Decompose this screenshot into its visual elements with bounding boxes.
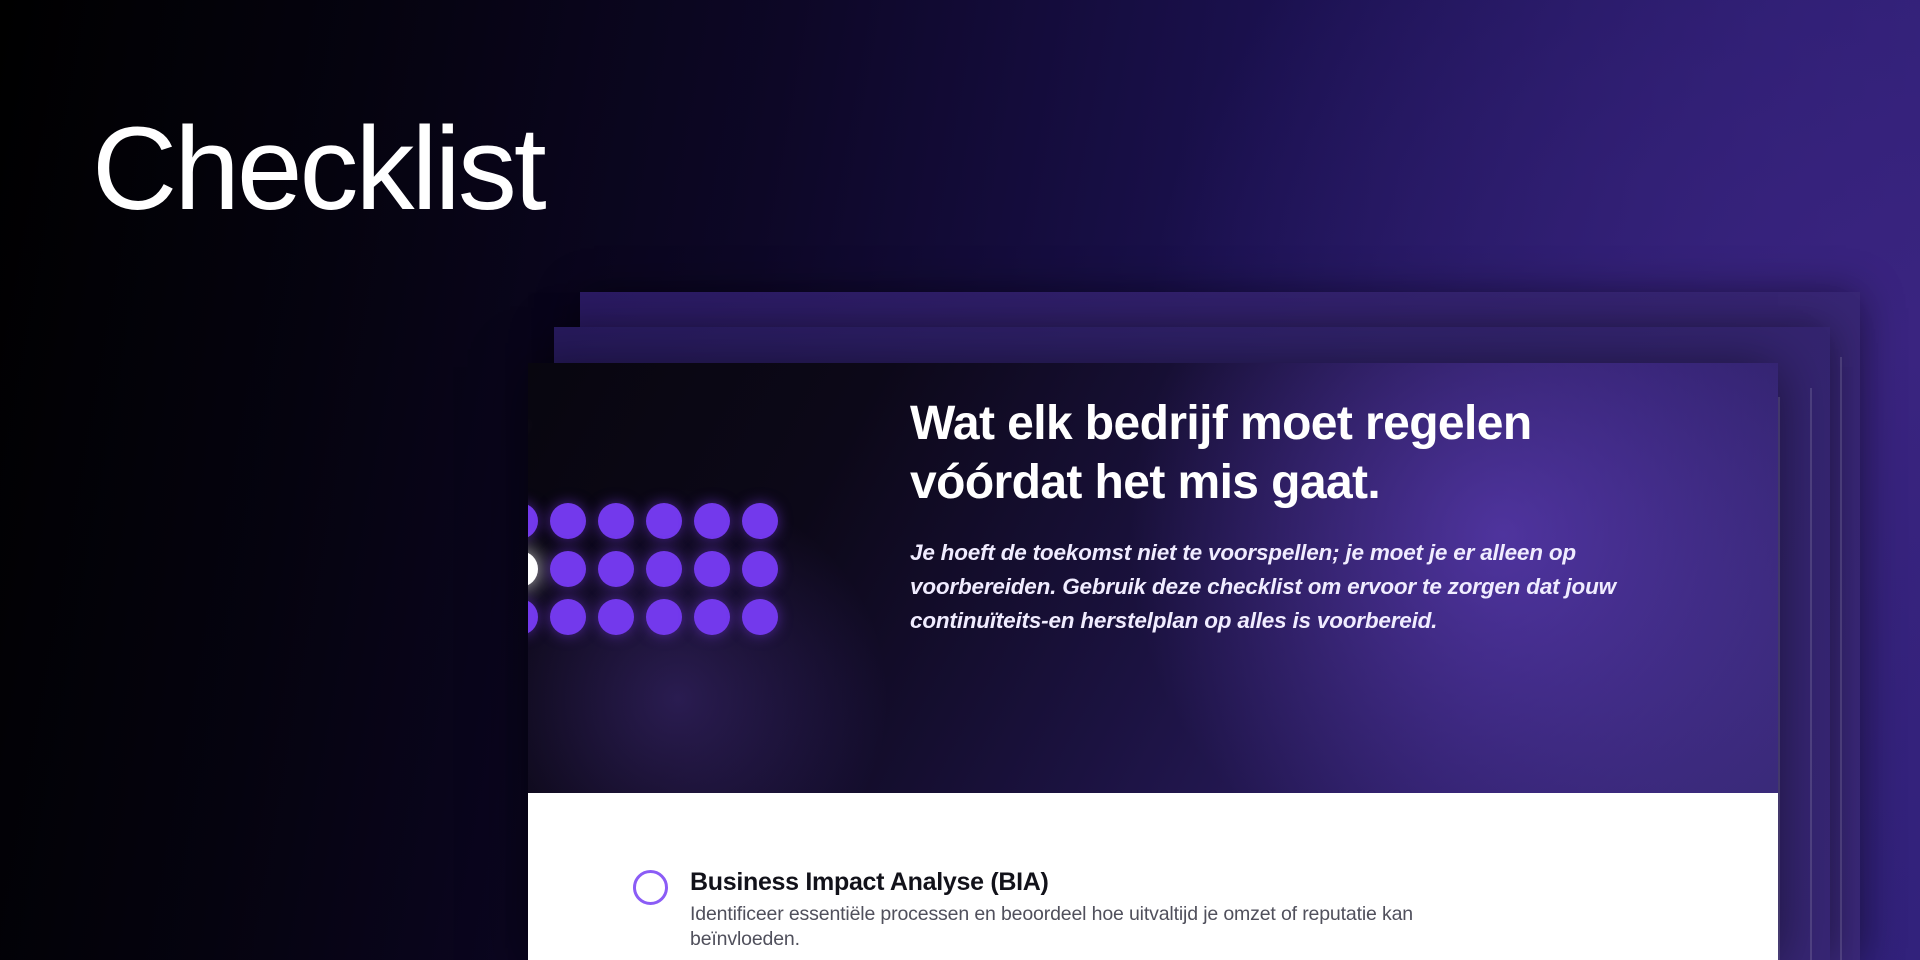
dot — [550, 599, 586, 635]
dot-cell — [592, 497, 640, 545]
dot-cell — [736, 497, 784, 545]
dot-cell — [544, 497, 592, 545]
checklist-card[interactable]: Wat elk bedrijf moet regelen vóórdat het… — [528, 363, 1778, 960]
checklist-item-description: Identificeer essentiële processen en beo… — [690, 902, 1450, 953]
dot — [528, 599, 538, 635]
dot-cell — [688, 545, 736, 593]
checklist-item-title: Business Impact Analyse (BIA) — [690, 868, 1450, 898]
dot — [598, 599, 634, 635]
dot — [598, 503, 634, 539]
dot-cell — [528, 497, 544, 545]
card-hero-header: Wat elk bedrijf moet regelen vóórdat het… — [528, 363, 1778, 793]
dot — [742, 599, 778, 635]
hero-subtitle: Je hoeft de toekomst niet te voorspellen… — [910, 536, 1700, 639]
dot-cell — [736, 593, 784, 641]
dot-cell — [544, 593, 592, 641]
dot — [742, 551, 778, 587]
hero-copy: Wat elk bedrijf moet regelen vóórdat het… — [910, 395, 1700, 639]
dot-cell — [688, 593, 736, 641]
dot-cell — [528, 593, 544, 641]
hero-title: Wat elk bedrijf moet regelen vóórdat het… — [910, 395, 1700, 512]
dot-cell — [640, 545, 688, 593]
dot-cell — [736, 545, 784, 593]
dot-cell — [688, 497, 736, 545]
dot-cell — [592, 593, 640, 641]
dot — [598, 551, 634, 587]
checklist-item-text: Business Impact Analyse (BIA) Identifice… — [690, 868, 1450, 953]
hero-title-line-2: vóórdat het mis gaat. — [910, 456, 1380, 509]
dot-cell — [640, 497, 688, 545]
dot-grid-logo — [528, 497, 784, 641]
dot — [646, 551, 682, 587]
card-seam-line — [1778, 397, 1780, 960]
dot — [550, 551, 586, 587]
checklist-body: Business Impact Analyse (BIA) Identifice… — [528, 793, 1778, 960]
dot-cell — [592, 545, 640, 593]
dot-cell — [544, 545, 592, 593]
dot-highlight — [528, 551, 538, 587]
checklist-item[interactable]: Business Impact Analyse (BIA) Identifice… — [528, 868, 1778, 953]
dot — [694, 551, 730, 587]
card-seam-line — [1810, 388, 1812, 960]
dot — [528, 503, 538, 539]
dot — [550, 503, 586, 539]
card-stack: Wat elk bedrijf moet regelen vóórdat het… — [0, 0, 1920, 960]
card-seam-line — [1840, 357, 1842, 960]
dot — [742, 503, 778, 539]
dot-cell-highlight — [528, 545, 544, 593]
dot — [646, 599, 682, 635]
checkbox-circle-icon[interactable] — [633, 870, 668, 905]
hero-title-line-1: Wat elk bedrijf moet regelen — [910, 397, 1532, 450]
dot — [694, 503, 730, 539]
dot — [646, 503, 682, 539]
dot — [694, 599, 730, 635]
dot-cell — [640, 593, 688, 641]
